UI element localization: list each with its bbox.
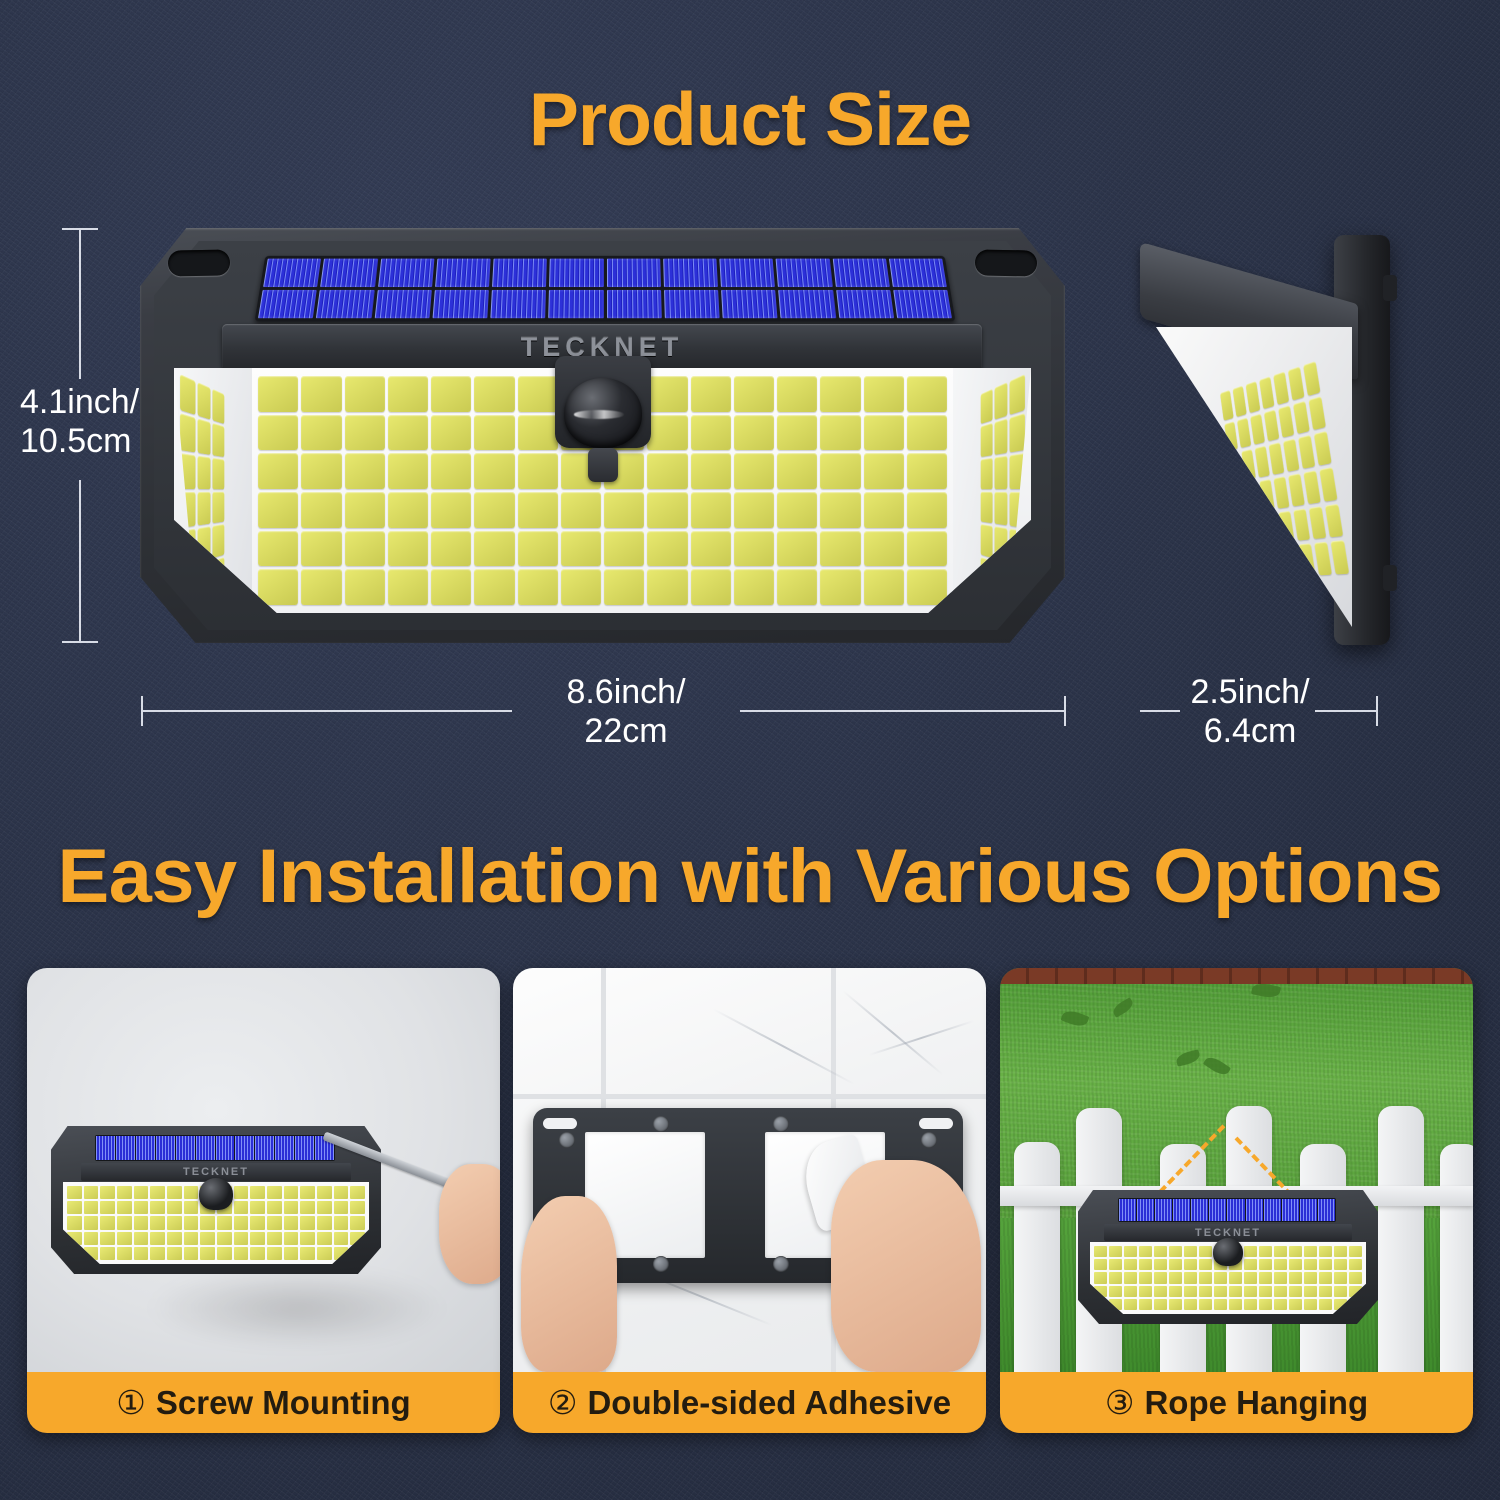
- led-chip: [647, 453, 687, 489]
- led-chip: [1169, 1259, 1182, 1270]
- led-chip: [258, 415, 298, 451]
- led-chip: [1304, 1299, 1317, 1310]
- led-chip: [167, 1186, 182, 1199]
- led-chip: [474, 415, 514, 451]
- solar-panel-row: [263, 259, 947, 287]
- led-chip: [518, 376, 558, 412]
- led-chip: [777, 531, 817, 567]
- hand-right-peeling: [831, 1160, 981, 1372]
- depth-tick-right: [1376, 696, 1378, 726]
- led-chip: [301, 531, 341, 567]
- led-chip: [180, 492, 195, 528]
- solar-wall-light-front-view: TECKNET: [140, 228, 1065, 643]
- led-chip: [1314, 542, 1332, 575]
- led-chip: [350, 1201, 365, 1214]
- install-option-rope-hanging[interactable]: TECKNET ③ Rope Hanging: [1000, 968, 1473, 1433]
- led-chip: [1334, 1286, 1347, 1297]
- led-chip: [184, 1247, 199, 1260]
- led-chip: [234, 1216, 249, 1229]
- led-chip: [1293, 508, 1310, 541]
- led-chip: [1320, 467, 1338, 501]
- led-chip: [1274, 1246, 1287, 1257]
- led-chip: [1124, 1299, 1137, 1310]
- hand-left: [521, 1196, 617, 1372]
- led-chip: [820, 531, 860, 567]
- led-chip: [167, 1216, 182, 1229]
- solar-cell: [832, 259, 889, 287]
- led-chip: [1241, 449, 1256, 480]
- led-chip: [474, 376, 514, 412]
- led-chip: [258, 531, 298, 567]
- led-chip: [1233, 386, 1247, 417]
- led-chip: [1279, 510, 1295, 542]
- led-chip: [734, 531, 774, 567]
- solar-panel: [1118, 1198, 1336, 1222]
- led-chip: [1319, 1299, 1332, 1310]
- led-chip: [561, 569, 601, 605]
- led-chip: [1246, 482, 1261, 513]
- led-chip: [1334, 1246, 1347, 1257]
- mounted-lamp: TECKNET: [51, 1126, 381, 1274]
- led-chip: [1319, 1272, 1332, 1283]
- solar-wall-light-side-view: [1140, 235, 1390, 645]
- dimension-line-right: [740, 710, 1065, 712]
- bracket-screw-hole: [773, 1256, 789, 1272]
- solar-cell: [1191, 1199, 1208, 1221]
- led-chip: [1154, 1272, 1167, 1283]
- led-chip: [217, 1216, 232, 1229]
- led-chip: [1244, 1299, 1257, 1310]
- led-chip: [1319, 1286, 1332, 1297]
- led-chip: [213, 423, 225, 457]
- led-chip: [1228, 452, 1242, 482]
- led-chip: [1124, 1286, 1137, 1297]
- solar-cell: [664, 289, 720, 318]
- bracket-screw-hole: [559, 1132, 575, 1148]
- led-chip: [518, 453, 558, 489]
- led-chip: [100, 1247, 115, 1260]
- led-chip: [1199, 1286, 1212, 1297]
- led-chip: [150, 1232, 165, 1245]
- led-chip: [345, 569, 385, 605]
- led-chip: [1349, 1246, 1362, 1257]
- solar-cell: [719, 259, 775, 287]
- solar-cell: [116, 1136, 135, 1160]
- led-chip: [1283, 545, 1300, 577]
- led-chip: [864, 569, 904, 605]
- option-number-3: ③: [1105, 1383, 1135, 1422]
- brand-logo-text: TECKNET: [1195, 1227, 1261, 1239]
- led-chip: [1154, 1246, 1167, 1257]
- solar-cell: [490, 289, 546, 318]
- led-chip: [1244, 1272, 1257, 1283]
- led-chip: [300, 1201, 315, 1214]
- led-chip: [907, 415, 947, 451]
- led-chip: [1255, 548, 1270, 579]
- led-chip: [1259, 479, 1274, 511]
- led-chip: [301, 415, 341, 451]
- led-chip: [604, 531, 644, 567]
- install-option-double-sided-adhesive[interactable]: ② Double-sided Adhesive: [513, 968, 986, 1433]
- led-chip: [200, 1216, 215, 1229]
- solar-cell: [316, 289, 374, 318]
- led-chip: [213, 524, 225, 558]
- light-sensor-icon: [588, 448, 618, 482]
- led-chip: [1273, 371, 1289, 404]
- led-chip: [1264, 409, 1280, 441]
- bracket-screw-hole: [653, 1116, 669, 1132]
- led-chip: [167, 1232, 182, 1245]
- led-chip: [864, 531, 904, 567]
- led-chip: [1255, 446, 1270, 478]
- led-chip: [317, 1201, 332, 1214]
- led-chip: [184, 1186, 199, 1199]
- led-chip: [1289, 1286, 1302, 1297]
- led-chip: [1288, 473, 1305, 506]
- solar-cell: [1300, 1199, 1317, 1221]
- solar-cell: [216, 1136, 235, 1160]
- led-chip: [1274, 476, 1290, 508]
- height-dimension-label: 4.1inch/ 10.5cm: [20, 383, 142, 461]
- solar-cell: [663, 259, 718, 287]
- led-chip: [388, 531, 428, 567]
- fence-picket: [1378, 1106, 1424, 1372]
- led-chip: [345, 492, 385, 528]
- led-chip: [197, 492, 210, 526]
- led-chip: [1319, 1259, 1332, 1270]
- led-chip: [117, 1232, 132, 1245]
- led-chip: [117, 1186, 132, 1199]
- led-chip: [994, 382, 1007, 420]
- led-chip: [1214, 1286, 1227, 1297]
- led-chip: [604, 492, 644, 528]
- solar-cell: [275, 1136, 294, 1160]
- led-chip: [1220, 390, 1234, 421]
- solar-cell: [1119, 1199, 1136, 1221]
- led-chip: [250, 1216, 265, 1229]
- led-chip: [1169, 1246, 1182, 1257]
- solar-cell: [1246, 1199, 1263, 1221]
- install-option-screw-mounting[interactable]: TECKNET ① Screw Mounting: [27, 968, 500, 1433]
- motion-sensor-housing: [555, 356, 651, 448]
- led-chip: [1124, 1246, 1137, 1257]
- led-chip: [1010, 492, 1025, 528]
- led-chip: [258, 492, 298, 528]
- led-chip: [301, 492, 341, 528]
- led-chip: [1259, 1272, 1272, 1283]
- led-chip: [301, 569, 341, 605]
- led-chip: [84, 1232, 99, 1245]
- led-chip: [180, 413, 195, 452]
- led-chip: [1314, 431, 1332, 466]
- solar-cell: [549, 259, 603, 287]
- depth-label-inches: 2.5inch/: [1180, 673, 1320, 712]
- led-chip: [907, 376, 947, 412]
- solar-cell: [607, 289, 662, 318]
- led-chip: [350, 1216, 365, 1229]
- led-chip: [820, 376, 860, 412]
- caption-bar-3: ③ Rope Hanging: [1000, 1372, 1473, 1433]
- led-chip: [117, 1247, 132, 1260]
- led-chip: [284, 1247, 299, 1260]
- led-chip: [1304, 1259, 1317, 1270]
- option-label-1: Screw Mounting: [156, 1384, 411, 1422]
- led-chip: [734, 492, 774, 528]
- led-chip: [300, 1232, 315, 1245]
- led-chip: [267, 1232, 282, 1245]
- solar-cell: [548, 289, 603, 318]
- led-chip: [1298, 435, 1315, 469]
- led-chip: [334, 1186, 349, 1199]
- led-chip: [1269, 442, 1285, 474]
- led-chip: [431, 492, 471, 528]
- led-chip: [67, 1201, 82, 1214]
- led-chip: [1299, 544, 1316, 577]
- led-chip: [334, 1232, 349, 1245]
- led-chip: [981, 524, 993, 558]
- led-chip: [234, 1201, 249, 1214]
- led-chip: [150, 1216, 165, 1229]
- led-chip: [1259, 1246, 1272, 1257]
- led-chip: [1169, 1286, 1182, 1297]
- led-chip: [864, 415, 904, 451]
- led-chip: [981, 492, 993, 524]
- led-chip: [647, 376, 687, 412]
- solar-cell: [778, 289, 835, 318]
- led-chip: [691, 453, 731, 489]
- led-chip: [184, 1232, 199, 1245]
- led-chip: [1214, 1272, 1227, 1283]
- led-chip: [1283, 439, 1300, 472]
- led-chip: [1139, 1272, 1152, 1283]
- led-chip: [1289, 1246, 1302, 1257]
- solar-cell: [263, 259, 321, 287]
- pir-sensor-dome-icon: [1213, 1238, 1243, 1266]
- solar-cell: [606, 259, 660, 287]
- led-chip: [1334, 1272, 1347, 1283]
- led-chip: [1229, 1299, 1242, 1310]
- led-chip: [234, 1232, 249, 1245]
- led-chip: [1169, 1272, 1182, 1283]
- led-chip: [734, 376, 774, 412]
- solar-panel-row: [258, 289, 952, 318]
- led-chip: [474, 453, 514, 489]
- led-chip: [431, 453, 471, 489]
- solar-cell: [435, 259, 491, 287]
- led-chip: [1154, 1259, 1167, 1270]
- solar-cell: [320, 259, 377, 287]
- led-chip: [1349, 1272, 1362, 1283]
- led-chip: [561, 531, 601, 567]
- solar-cell: [136, 1136, 155, 1160]
- led-chip: [1184, 1272, 1197, 1283]
- width-dimension-label: 8.6inch/ 22cm: [512, 673, 740, 751]
- led-chip: [1244, 1286, 1257, 1297]
- bracket-slot-left: [543, 1118, 577, 1129]
- led-chip: [267, 1186, 282, 1199]
- led-chip: [1109, 1259, 1122, 1270]
- led-chip: [267, 1201, 282, 1214]
- led-chip: [1274, 1286, 1287, 1297]
- solar-cell: [1264, 1199, 1281, 1221]
- option-number-2: ②: [548, 1383, 578, 1422]
- led-chip: [345, 531, 385, 567]
- led-chip: [200, 1232, 215, 1245]
- solar-cell: [889, 259, 947, 287]
- dimension-line-upper: [79, 229, 81, 379]
- led-chip: [258, 376, 298, 412]
- hand-holding-screwdriver: [439, 1164, 500, 1284]
- led-chip: [1293, 400, 1310, 434]
- led-chip: [820, 569, 860, 605]
- bracket-slot-right: [919, 1118, 953, 1129]
- led-chip: [1184, 1286, 1197, 1297]
- led-chip: [691, 376, 731, 412]
- led-chip: [777, 415, 817, 451]
- led-chip: [864, 376, 904, 412]
- led-chip: [180, 374, 195, 415]
- led-chip: [777, 376, 817, 412]
- bracket-screw-hole: [653, 1256, 669, 1272]
- led-chip: [300, 1186, 315, 1199]
- solar-panel: [95, 1135, 335, 1161]
- led-chip: [267, 1247, 282, 1260]
- led-chip: [1233, 484, 1247, 514]
- bracket-screw-hole: [921, 1132, 937, 1148]
- led-chip: [213, 457, 225, 489]
- led-chip: [1199, 1259, 1212, 1270]
- led-chip: [100, 1232, 115, 1245]
- fence-picket: [1440, 1144, 1473, 1372]
- led-chip: [431, 569, 471, 605]
- led-chip: [1242, 549, 1257, 579]
- led-chip: [981, 457, 993, 489]
- pir-sensor-dome-icon: [199, 1178, 233, 1210]
- led-chip: [691, 569, 731, 605]
- led-chip: [217, 1232, 232, 1245]
- solar-cell: [258, 289, 317, 318]
- caption-bar-2: ② Double-sided Adhesive: [513, 1372, 986, 1433]
- led-chip: [1229, 1272, 1242, 1283]
- led-chip: [1224, 421, 1238, 452]
- led-chip: [981, 389, 993, 424]
- solar-cell: [1227, 1199, 1244, 1221]
- solar-cell: [378, 259, 435, 287]
- led-chip: [1309, 506, 1327, 540]
- hanging-slot-right-icon: [975, 249, 1037, 276]
- led-chip: [1184, 1299, 1197, 1310]
- led-chip: [258, 453, 298, 489]
- led-chip: [1184, 1246, 1197, 1257]
- led-chip: [474, 492, 514, 528]
- caption-bar-1: ① Screw Mounting: [27, 1372, 500, 1433]
- led-chip: [180, 453, 195, 489]
- led-chip: [1246, 381, 1261, 413]
- led-chip: [647, 531, 687, 567]
- led-chip: [907, 453, 947, 489]
- led-chip: [197, 419, 210, 455]
- led-chip: [1094, 1259, 1107, 1270]
- hanging-slot-left-icon: [168, 249, 230, 276]
- led-chip: [267, 1216, 282, 1229]
- led-chip: [100, 1186, 115, 1199]
- led-chip: [1259, 1286, 1272, 1297]
- led-chip: [1331, 540, 1350, 574]
- led-chip: [518, 415, 558, 451]
- scene-gray-wall: TECKNET: [27, 968, 500, 1372]
- led-chip: [1259, 376, 1274, 409]
- led-chip: [1094, 1272, 1107, 1283]
- brick-garden-border: [1000, 968, 1473, 984]
- led-chip: [907, 531, 947, 567]
- led-chip: [134, 1232, 149, 1245]
- led-chip: [84, 1201, 99, 1214]
- led-chip: [345, 376, 385, 412]
- led-chip: [250, 1247, 265, 1260]
- led-chip: [1139, 1246, 1152, 1257]
- led-chip: [150, 1201, 165, 1214]
- led-chip: [84, 1186, 99, 1199]
- led-chip: [1169, 1299, 1182, 1310]
- led-chip: [1139, 1286, 1152, 1297]
- led-chip: [1244, 1246, 1257, 1257]
- led-chip: [1334, 1259, 1347, 1270]
- led-chip: [300, 1216, 315, 1229]
- led-chip: [777, 453, 817, 489]
- width-label-cm: 22cm: [512, 712, 740, 751]
- solar-cell: [1137, 1199, 1154, 1221]
- led-chip: [1274, 1272, 1287, 1283]
- led-chip: [167, 1247, 182, 1260]
- led-chip: [388, 492, 428, 528]
- solar-cell: [176, 1136, 195, 1160]
- solar-cell: [1155, 1199, 1172, 1221]
- mount-nub-bottom: [1383, 565, 1397, 591]
- led-chip: [317, 1186, 332, 1199]
- led-chip: [1259, 1299, 1272, 1310]
- led-chip: [284, 1232, 299, 1245]
- solar-cell: [196, 1136, 215, 1160]
- led-chip: [1325, 503, 1344, 537]
- led-chip: [647, 492, 687, 528]
- led-chip: [1250, 515, 1265, 546]
- led-chip: [981, 423, 993, 457]
- led-chip: [1094, 1246, 1107, 1257]
- led-chip: [1274, 1299, 1287, 1310]
- led-chip: [907, 569, 947, 605]
- led-chip: [1278, 405, 1294, 438]
- led-chip: [1214, 1299, 1227, 1310]
- led-chip: [518, 569, 558, 605]
- led-chip: [647, 569, 687, 605]
- led-chip: [134, 1247, 149, 1260]
- led-chip: [1010, 453, 1025, 489]
- led-chip: [84, 1216, 99, 1229]
- led-chip: [1319, 1246, 1332, 1257]
- pir-sensor-dome-icon: [564, 378, 642, 448]
- led-chip: [150, 1247, 165, 1260]
- led-chip: [234, 1186, 249, 1199]
- solar-cell: [255, 1136, 274, 1160]
- led-chip: [197, 382, 210, 420]
- solar-cell: [893, 289, 952, 318]
- solar-cell: [295, 1136, 314, 1160]
- solar-cell: [1318, 1199, 1335, 1221]
- led-chip: [150, 1186, 165, 1199]
- led-chip: [474, 531, 514, 567]
- led-chip: [1124, 1272, 1137, 1283]
- solar-cell: [721, 289, 778, 318]
